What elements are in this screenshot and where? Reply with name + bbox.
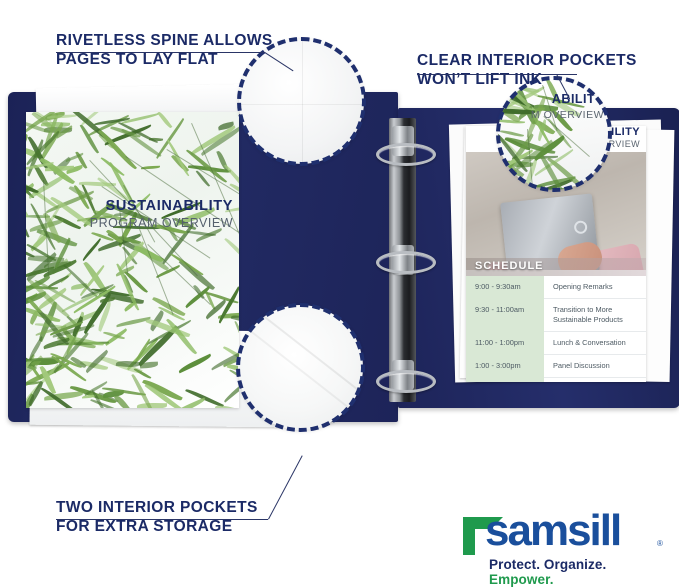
schedule-label: SCHEDULE xyxy=(475,260,544,272)
schedule-row-item: Lunch & Conversation xyxy=(544,332,646,355)
bamboo-leaf xyxy=(224,237,239,266)
schedule-row-item: Transition to More Sustainable Products xyxy=(544,299,646,332)
schedule-table: 9:00 - 9:30amOpening Remarks9:30 - 11:00… xyxy=(466,276,646,382)
cover-subtitle: PROGRAM OVERVIEW xyxy=(55,216,233,231)
callout-clear-pockets-line1: CLEAR INTERIOR POCKETS xyxy=(417,52,637,69)
callout-two-pockets-line1: TWO INTERIOR POCKETS xyxy=(56,499,258,516)
schedule-row: 9:00 - 9:30amOpening Remarks xyxy=(466,276,646,299)
cover-title: SUSTAINABILITY xyxy=(55,198,233,214)
schedule-row-time: 3:00 - 5:00pm xyxy=(466,378,544,382)
logo-tagline-blue: Protect. Organize. xyxy=(489,557,606,572)
schedule-row: 9:30 - 11:00amTransition to More Sustain… xyxy=(466,299,646,332)
schedule-band: SCHEDULE xyxy=(466,258,646,276)
binder-ring-top xyxy=(376,143,436,166)
callout-rule-two-pockets xyxy=(56,519,268,520)
bamboo-leaf xyxy=(215,404,237,408)
callout-two-pockets: TWO INTERIOR POCKETS FOR EXTRA STORAGE xyxy=(56,479,258,555)
samsill-logo: samsill ® Protect. Organize. Empower. xyxy=(461,509,671,571)
callout-rivetless-spine: RIVETLESS SPINE ALLOWS PAGES TO LAY FLAT xyxy=(56,12,273,88)
logo-tagline-green: Empower. xyxy=(489,572,554,587)
cover-artwork: SUSTAINABILITY PROGRAM OVERVIEW xyxy=(26,112,239,408)
callout-clear-pockets: CLEAR INTERIOR POCKETS WON’T LIFT INK xyxy=(417,32,637,108)
logo-tagline: Protect. Organize. Empower. xyxy=(489,557,671,587)
bamboo-leaf xyxy=(177,353,212,373)
schedule-row-time: 9:30 - 11:00am xyxy=(466,299,544,332)
schedule-row-time: 1:00 - 3:00pm xyxy=(466,355,544,378)
logo-registered-mark: ® xyxy=(657,539,663,548)
callout-clear-pockets-line2: WON’T LIFT INK xyxy=(417,70,637,89)
schedule-row-time: 11:00 - 1:00pm xyxy=(466,332,544,355)
schedule-row-item: Legislation for Bio-Plastics xyxy=(544,378,646,382)
callout-rule-clear-pockets xyxy=(417,74,577,75)
callout-leader-two-pockets xyxy=(268,455,303,519)
schedule-row-time: 9:00 - 9:30am xyxy=(466,276,544,299)
schedule-row: 11:00 - 1:00pmLunch & Conversation xyxy=(466,332,646,355)
callout-rivetless-spine-line1: RIVETLESS SPINE ALLOWS xyxy=(56,32,273,49)
bamboo-leaf xyxy=(114,394,130,408)
schedule-row: 3:00 - 5:00pmLegislation for Bio-Plastic… xyxy=(466,378,646,382)
bamboo-leaf xyxy=(48,275,70,287)
callout-rule-rivetless xyxy=(56,52,265,53)
binder-ring-bottom xyxy=(376,370,436,393)
bamboo-leaf xyxy=(158,112,173,129)
bamboo-leaf xyxy=(47,115,77,119)
schedule-row: 1:00 - 3:00pmPanel Discussion xyxy=(466,355,646,378)
bamboo-leaf xyxy=(166,139,189,177)
binder-ring-middle xyxy=(376,251,436,274)
schedule-row-item: Opening Remarks xyxy=(544,276,646,299)
magnifier-ring-pocket xyxy=(236,303,365,432)
cover-title-block: SUSTAINABILITY PROGRAM OVERVIEW xyxy=(55,198,233,231)
schedule-row-item: Panel Discussion xyxy=(544,355,646,378)
bamboo-leaf xyxy=(190,126,237,156)
logo-wordmark: samsill xyxy=(485,509,620,553)
product-feature-image: SUSTAINABILITY PROGRAM OVERVIEW SUSTAINA… xyxy=(0,0,679,576)
